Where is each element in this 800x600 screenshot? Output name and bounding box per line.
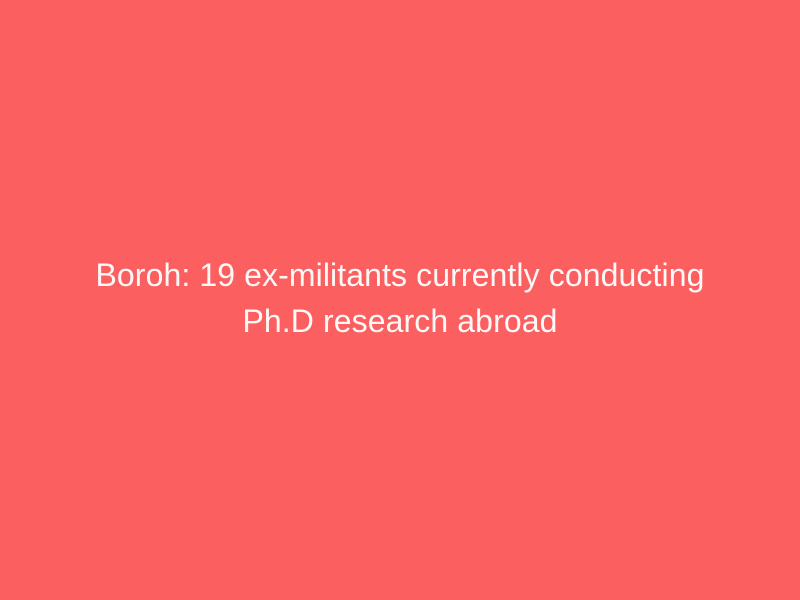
headline-block: Boroh: 19 ex-militants currently conduct… xyxy=(80,252,720,344)
article-thumbnail-placeholder: Boroh: 19 ex-militants currently conduct… xyxy=(0,0,800,600)
headline-title: Boroh: 19 ex-militants currently conduct… xyxy=(80,252,720,344)
